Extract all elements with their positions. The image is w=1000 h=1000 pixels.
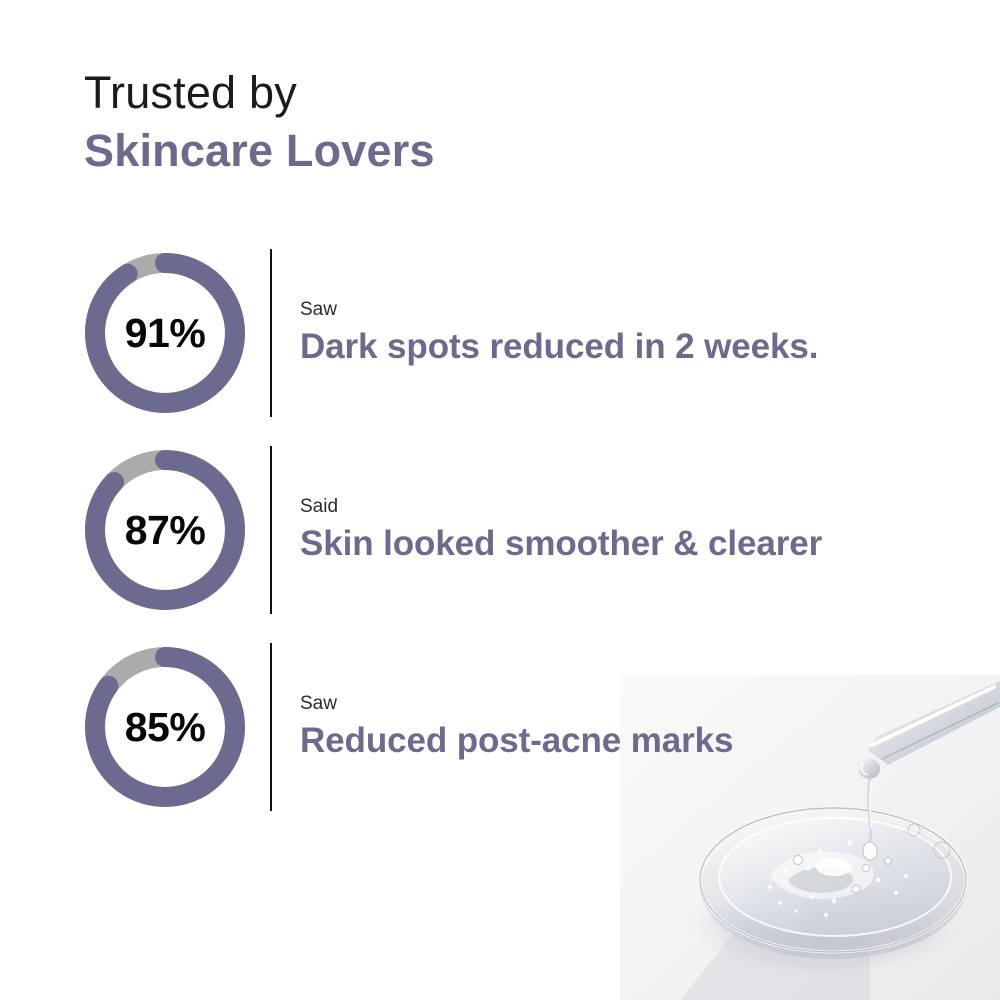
stats-list: 91% Saw Dark spots reduced in 2 weeks. 8… [0,245,1000,836]
row-divider [270,643,272,811]
row-divider [270,446,272,614]
donut-chart-85: 85% [85,647,245,807]
stat-row: 85% Saw Reduced post-acne marks [0,639,1000,815]
donut-value-label: 91% [85,253,245,413]
stat-kicker: Saw [300,693,733,716]
stat-row: 91% Saw Dark spots reduced in 2 weeks. [0,245,1000,421]
stat-kicker: Said [300,496,822,519]
page-title: Trusted by Skincare Lovers [84,68,704,177]
headline-line-2: Skincare Lovers [84,124,704,177]
headline-line-1: Trusted by [84,68,704,118]
stat-title: Skin looked smoother & clearer [300,524,822,564]
stat-title: Dark spots reduced in 2 weeks. [300,327,818,367]
stat-text-block: Said Skin looked smoother & clearer [300,496,822,564]
stat-kicker: Saw [300,299,818,322]
donut-value-label: 85% [85,647,245,807]
donut-chart-87: 87% [85,450,245,610]
stat-row: 87% Said Skin looked smoother & clearer [0,442,1000,618]
stat-text-block: Saw Dark spots reduced in 2 weeks. [300,299,818,367]
donut-value-label: 87% [85,450,245,610]
donut-chart-91: 91% [85,253,245,413]
stat-title: Reduced post-acne marks [300,721,733,761]
row-divider [270,249,272,417]
stat-text-block: Saw Reduced post-acne marks [300,693,733,761]
